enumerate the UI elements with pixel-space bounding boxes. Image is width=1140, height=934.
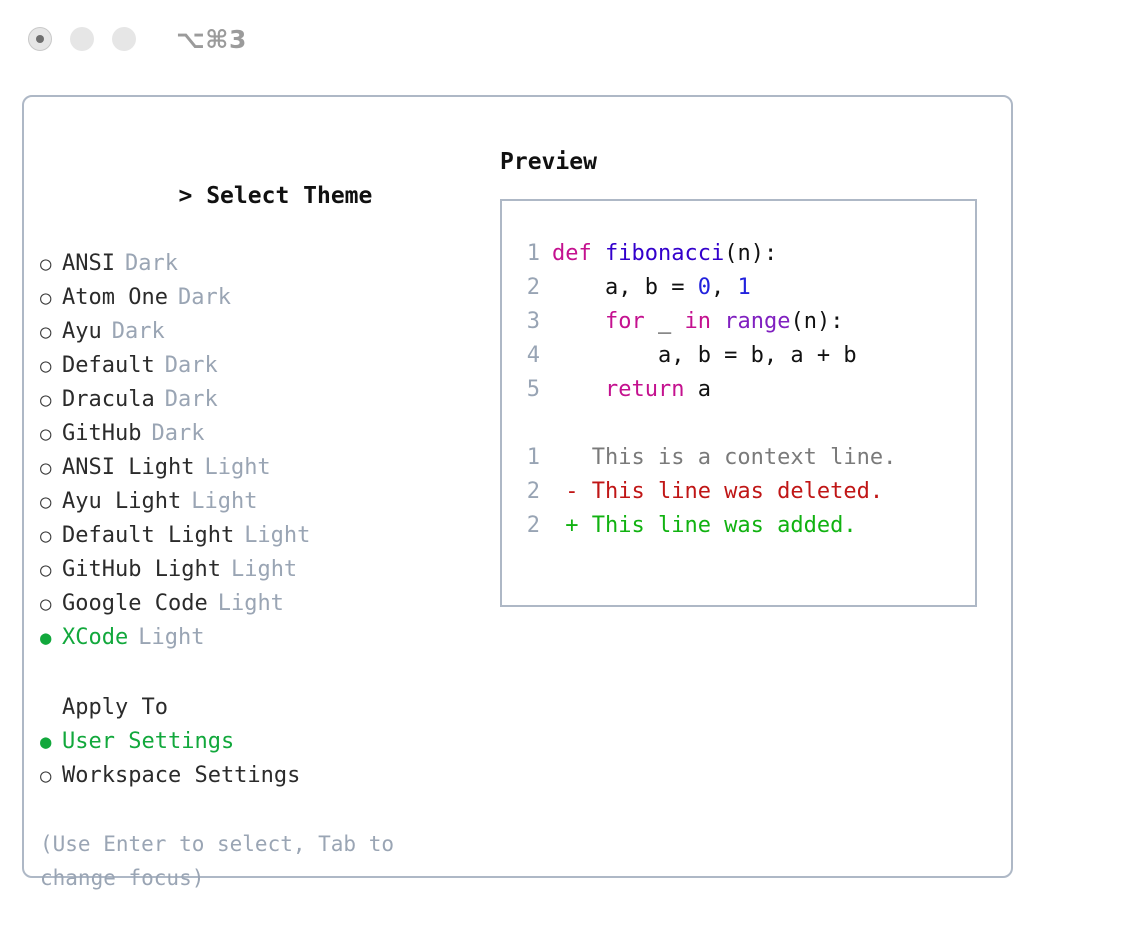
- code-line-number: 1: [514, 237, 552, 271]
- code-line-content: a, b = b, a + b: [552, 339, 857, 373]
- radio-unselected-icon: ○: [40, 383, 62, 417]
- preview-heading: Preview: [500, 145, 990, 179]
- theme-option-variant-tag: Light: [218, 587, 284, 621]
- code-token-num: 1: [737, 275, 750, 300]
- select-theme-heading: > Select Theme: [40, 145, 470, 247]
- diff-line-del: 2 - This line was deleted.: [514, 475, 975, 509]
- theme-option-google-code[interactable]: ○Google CodeLight: [40, 587, 470, 621]
- diff-sample: 1 This is a context line.2 - This line w…: [514, 441, 975, 543]
- code-sample: 1def fibonacci(n):2 a, b = 0, 13 for _ i…: [514, 237, 975, 407]
- theme-option-label: Google Code: [62, 587, 208, 621]
- theme-option-github[interactable]: ○GitHubDark: [40, 417, 470, 451]
- apply-to-list: ●User Settings○Workspace Settings: [40, 725, 470, 793]
- code-line: 5 return a: [514, 373, 975, 407]
- code-line-number: 2: [514, 271, 552, 305]
- code-token-kw: return: [605, 377, 684, 402]
- theme-option-variant-tag: Light: [191, 485, 257, 519]
- code-line: 3 for _ in range(n):: [514, 305, 975, 339]
- diff-line-content: This is a context line.: [552, 441, 896, 475]
- code-token-plain: [552, 377, 605, 402]
- code-token-plain: a, b =: [552, 275, 698, 300]
- theme-option-label: ANSI Light: [62, 451, 194, 485]
- diff-line-content: + This line was added.: [552, 509, 857, 543]
- window-controls: [28, 27, 136, 51]
- apply-to-option-label: User Settings: [62, 725, 234, 759]
- radio-unselected-icon: ○: [40, 759, 62, 793]
- theme-option-variant-tag: Dark: [151, 417, 204, 451]
- code-token-plain: (n):: [790, 309, 843, 334]
- theme-option-label: Dracula: [62, 383, 155, 417]
- code-token-plain: [711, 309, 724, 334]
- code-token-plain: _: [645, 309, 685, 334]
- theme-option-label: XCode: [62, 621, 128, 655]
- theme-option-variant-tag: Light: [231, 553, 297, 587]
- radio-unselected-icon: ○: [40, 553, 62, 587]
- window-dot-2-icon[interactable]: [70, 27, 94, 51]
- code-token-kw: in: [684, 309, 711, 334]
- theme-option-label: GitHub: [62, 417, 141, 451]
- apply-to-option-label: Workspace Settings: [62, 759, 300, 793]
- diff-line-content: - This line was deleted.: [552, 475, 883, 509]
- window-dot-3-icon[interactable]: [112, 27, 136, 51]
- theme-option-dracula[interactable]: ○DraculaDark: [40, 383, 470, 417]
- code-token-plain: (n):: [724, 241, 777, 266]
- app-window: ⌥⌘3 > Select Theme ○ANSIDark○Atom OneDar…: [0, 0, 1140, 934]
- window-dot-inner-icon: [36, 35, 44, 43]
- theme-option-github-light[interactable]: ○GitHub LightLight: [40, 553, 470, 587]
- apply-to-heading: Apply To: [40, 691, 470, 725]
- code-token-plain: ,: [711, 275, 738, 300]
- diff-line-number: 1: [514, 441, 552, 475]
- diff-line-ctx: 1 This is a context line.: [514, 441, 975, 475]
- theme-option-label: Default: [62, 349, 155, 383]
- radio-unselected-icon: ○: [40, 519, 62, 553]
- code-token-fn: fibonacci: [605, 241, 724, 266]
- title-bar: ⌥⌘3: [0, 0, 1140, 78]
- diff-line-number: 2: [514, 475, 552, 509]
- radio-selected-icon: ●: [40, 725, 62, 759]
- preview-box: 1def fibonacci(n):2 a, b = 0, 13 for _ i…: [500, 199, 977, 607]
- apply-to-option-user-settings[interactable]: ●User Settings: [40, 725, 470, 759]
- select-theme-heading-label: Select Theme: [206, 183, 372, 209]
- code-line: 1def fibonacci(n):: [514, 237, 975, 271]
- caret-marker: >: [178, 183, 192, 209]
- preview-column: Preview 1def fibonacci(n):2 a, b = 0, 13…: [500, 145, 990, 607]
- apply-to-option-workspace-settings[interactable]: ○Workspace Settings: [40, 759, 470, 793]
- code-token-kw: for: [605, 309, 645, 334]
- code-line-content: return a: [552, 373, 711, 407]
- radio-unselected-icon: ○: [40, 417, 62, 451]
- theme-option-atom-one[interactable]: ○Atom OneDark: [40, 281, 470, 315]
- theme-option-label: Ayu Light: [62, 485, 181, 519]
- theme-option-variant-tag: Dark: [125, 247, 178, 281]
- theme-option-variant-tag: Dark: [178, 281, 231, 315]
- code-line-number: 4: [514, 339, 552, 373]
- code-token-bi: range: [724, 309, 790, 334]
- theme-option-variant-tag: Dark: [165, 349, 218, 383]
- theme-option-default[interactable]: ○DefaultDark: [40, 349, 470, 383]
- theme-option-default-light[interactable]: ○Default LightLight: [40, 519, 470, 553]
- code-line-number: 5: [514, 373, 552, 407]
- code-line-content: def fibonacci(n):: [552, 237, 777, 271]
- code-token-plain: [552, 309, 605, 334]
- radio-unselected-icon: ○: [40, 451, 62, 485]
- theme-option-label: Atom One: [62, 281, 168, 315]
- theme-option-label: Default Light: [62, 519, 234, 553]
- code-line-number: 3: [514, 305, 552, 339]
- radio-unselected-icon: ○: [40, 485, 62, 519]
- code-token-kw: def: [552, 241, 605, 266]
- radio-selected-icon: ●: [40, 621, 62, 655]
- theme-option-ansi[interactable]: ○ANSIDark: [40, 247, 470, 281]
- code-line: 2 a, b = 0, 1: [514, 271, 975, 305]
- diff-line-add: 2 + This line was added.: [514, 509, 975, 543]
- theme-option-label: GitHub Light: [62, 553, 221, 587]
- window-dot-active-icon[interactable]: [28, 27, 52, 51]
- theme-option-label: Ayu: [62, 315, 102, 349]
- theme-option-ansi-light[interactable]: ○ANSI LightLight: [40, 451, 470, 485]
- radio-unselected-icon: ○: [40, 315, 62, 349]
- code-token-num: 0: [698, 275, 711, 300]
- code-line-content: a, b = 0, 1: [552, 271, 751, 305]
- radio-unselected-icon: ○: [40, 281, 62, 315]
- theme-option-xcode[interactable]: ●XCodeLight: [40, 621, 470, 655]
- theme-option-label: ANSI: [62, 247, 115, 281]
- keyboard-hint-text: (Use Enter to select, Tab to change focu…: [40, 827, 440, 895]
- theme-selector-column: > Select Theme ○ANSIDark○Atom OneDark○Ay…: [40, 145, 470, 895]
- theme-option-variant-tag: Light: [244, 519, 310, 553]
- theme-option-variant-tag: Dark: [112, 315, 165, 349]
- code-line-content: for _ in range(n):: [552, 305, 843, 339]
- theme-option-ayu[interactable]: ○AyuDark: [40, 315, 470, 349]
- theme-option-variant-tag: Light: [138, 621, 204, 655]
- theme-option-variant-tag: Dark: [165, 383, 218, 417]
- code-line: 4 a, b = b, a + b: [514, 339, 975, 373]
- theme-list: ○ANSIDark○Atom OneDark○AyuDark○DefaultDa…: [40, 247, 470, 655]
- radio-unselected-icon: ○: [40, 247, 62, 281]
- theme-option-variant-tag: Light: [204, 451, 270, 485]
- code-diff-spacer: [514, 407, 975, 441]
- theme-option-ayu-light[interactable]: ○Ayu LightLight: [40, 485, 470, 519]
- main-panel: > Select Theme ○ANSIDark○Atom OneDark○Ay…: [22, 95, 1013, 878]
- diff-line-number: 2: [514, 509, 552, 543]
- radio-unselected-icon: ○: [40, 349, 62, 383]
- code-token-plain: a, b = b, a + b: [552, 343, 857, 368]
- radio-unselected-icon: ○: [40, 587, 62, 621]
- keyboard-shortcut-label: ⌥⌘3: [176, 25, 247, 54]
- code-token-plain: a: [684, 377, 711, 402]
